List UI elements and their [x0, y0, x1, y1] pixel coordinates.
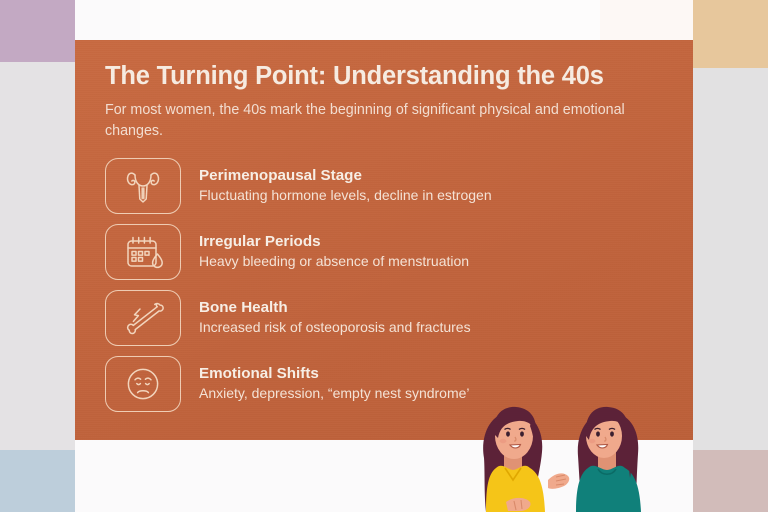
background-block-blue-bottom-left: [0, 450, 75, 512]
two-women-talking-illustration: [472, 398, 672, 512]
feature-title: Bone Health: [199, 298, 471, 317]
feature-description: Fluctuating hormone levels, decline in e…: [199, 186, 492, 205]
left-person-hand-resting: [506, 498, 531, 511]
left-person-hand-raised: [548, 473, 569, 488]
left-person-eye-right: [520, 431, 524, 436]
uterus-icon: [105, 158, 181, 214]
background-block-paper-right: [693, 0, 768, 512]
feature-item-bone-health: Bone Health Increased risk of osteoporos…: [105, 290, 663, 346]
card-subtitle: For most women, the 40s mark the beginni…: [105, 100, 645, 141]
feature-text: Perimenopausal Stage Fluctuating hormone…: [199, 166, 492, 205]
feature-list: Perimenopausal Stage Fluctuating hormone…: [105, 158, 663, 412]
infographic-canvas: The Turning Point: Understanding the 40s…: [0, 0, 768, 512]
background-block-rose-bottom-right: [693, 450, 768, 512]
background-block-mauve-top-left: [0, 0, 75, 62]
left-person-eye-left: [506, 431, 510, 436]
sad-face-icon: [105, 356, 181, 412]
feature-title: Emotional Shifts: [199, 364, 470, 383]
feature-description: Anxiety, depression, “empty nest syndrom…: [199, 384, 470, 403]
feature-description: Increased risk of osteoporosis and fract…: [199, 318, 471, 337]
right-person-eye-left: [596, 431, 600, 436]
feature-text: Irregular Periods Heavy bleeding or abse…: [199, 232, 469, 271]
bone-fracture-icon: [105, 290, 181, 346]
feature-text: Emotional Shifts Anxiety, depression, “e…: [199, 364, 470, 403]
background-block-paper-left: [0, 0, 75, 512]
info-card: The Turning Point: Understanding the 40s…: [75, 40, 693, 440]
left-person-blush: [500, 439, 507, 443]
background-block-tan-top-right: [693, 0, 768, 68]
feature-description: Heavy bleeding or absence of menstruatio…: [199, 252, 469, 271]
calendar-droplet-icon: [105, 224, 181, 280]
card-title: The Turning Point: Understanding the 40s: [105, 62, 663, 91]
feature-title: Perimenopausal Stage: [199, 166, 492, 185]
feature-title: Irregular Periods: [199, 232, 469, 251]
feature-text: Bone Health Increased risk of osteoporos…: [199, 298, 471, 337]
feature-item-irregular-periods: Irregular Periods Heavy bleeding or abse…: [105, 224, 663, 280]
feature-item-perimenopausal-stage: Perimenopausal Stage Fluctuating hormone…: [105, 158, 663, 214]
right-person-eye-right: [610, 431, 614, 436]
right-person-blush: [589, 439, 596, 443]
